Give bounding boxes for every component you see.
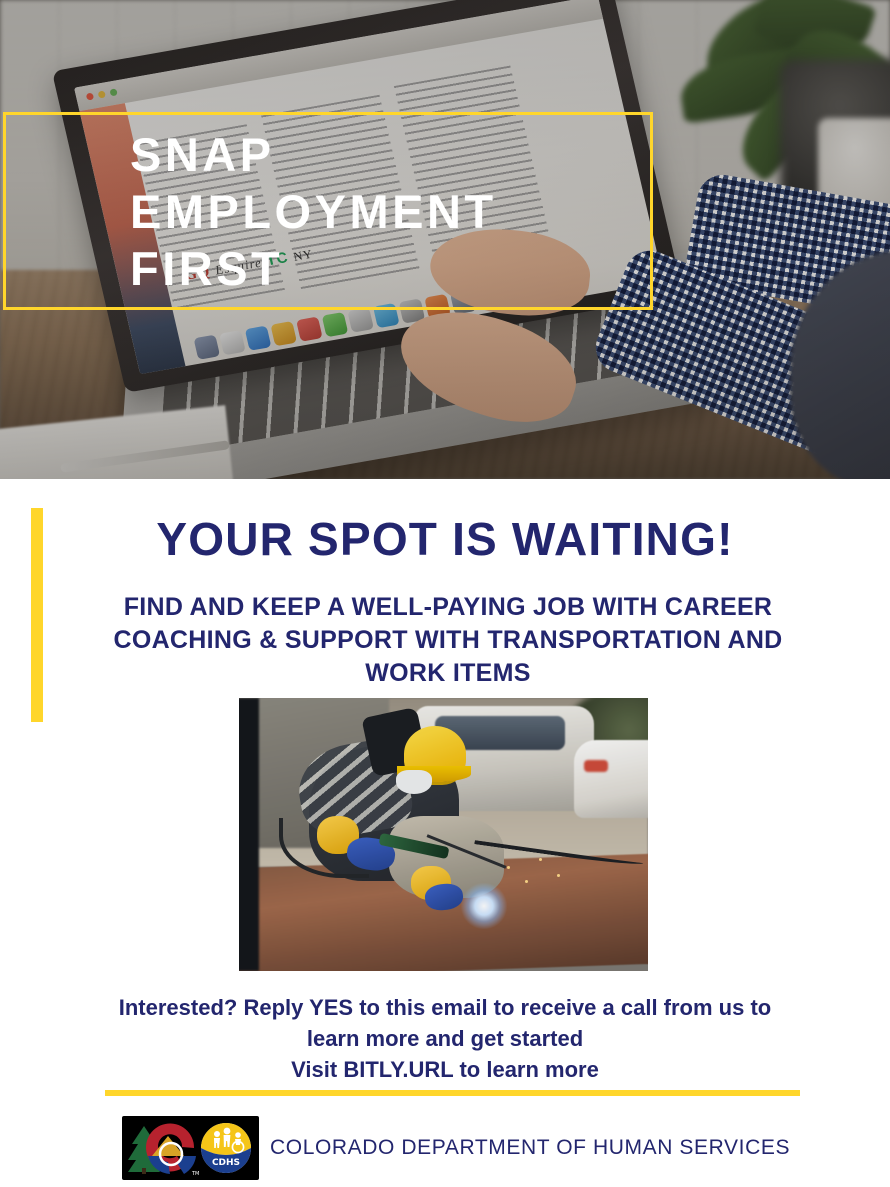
agency-name: COLORADO DEPARTMENT OF HUMAN SERVICES	[270, 1136, 790, 1160]
photo-tint	[239, 698, 648, 971]
subheadline-line-1: FIND AND KEEP A WELL-PAYING JOB WITH CAR…	[88, 591, 808, 624]
subheadline-line-3: WORK ITEMS	[88, 657, 808, 690]
hero-title-line-3: FIRST	[130, 240, 650, 297]
cta-line-1: Interested? Reply YES to this email to r…	[85, 992, 805, 1023]
footer: TM CDHS COLORADO DEPARTMENT OF HUMAN SER…	[0, 1110, 890, 1187]
page-headline: YOUR SPOT IS WAITING!	[0, 512, 890, 566]
cdhs-logo: TM CDHS	[122, 1116, 259, 1180]
welding-photo	[239, 698, 648, 971]
cdhs-mark-text: CDHS	[212, 1158, 240, 1168]
hero-banner: GQ Esquire TC NY	[0, 0, 890, 479]
call-to-action-text: Interested? Reply YES to this email to r…	[85, 992, 805, 1085]
hero-title-line-2: EMPLOYMENT	[130, 183, 650, 240]
cta-line-2: learn more and get started	[85, 1023, 805, 1054]
hero-title-line-1: SNAP	[130, 126, 650, 183]
hero-title: SNAP EMPLOYMENT FIRST	[130, 126, 650, 297]
cta-line-3-link[interactable]: Visit BITLY.URL to learn more	[85, 1054, 805, 1085]
svg-text:TM: TM	[191, 1171, 199, 1177]
subheadline-line-2: COACHING & SUPPORT WITH TRANSPORTATION A…	[88, 624, 808, 657]
yellow-divider	[105, 1090, 800, 1096]
page-subheadline: FIND AND KEEP A WELL-PAYING JOB WITH CAR…	[88, 591, 808, 690]
cdhs-logo-icon: TM CDHS	[122, 1116, 259, 1180]
